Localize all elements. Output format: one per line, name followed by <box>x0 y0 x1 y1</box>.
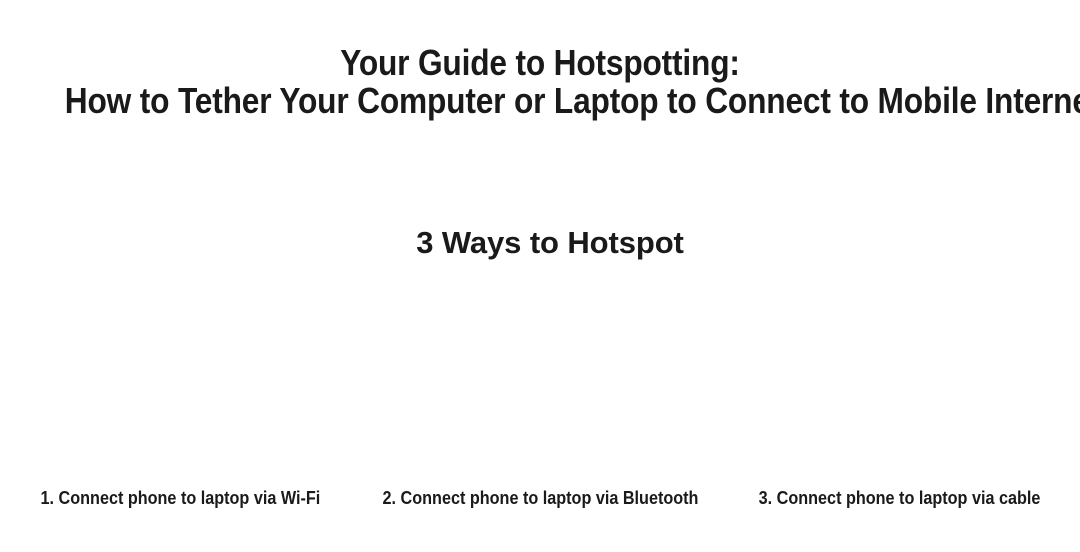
method-caption-1: 1. Connect phone to laptop via Wi-Fi <box>40 486 320 510</box>
method-column-3: 3. Connect phone to laptop via cable <box>720 486 1080 510</box>
page-title: Your Guide to Hotspotting: How to Tether… <box>0 44 1080 120</box>
illustration-row <box>0 282 1080 478</box>
section-heading: 3 Ways to Hotspot <box>0 224 1080 262</box>
caption-row: 1. Connect phone to laptop via Wi-Fi 2. … <box>0 486 1080 510</box>
bluetooth-tethering-illustration <box>360 282 720 478</box>
method-column-2: 2. Connect phone to laptop via Bluetooth <box>360 486 720 510</box>
method-caption-2: 2. Connect phone to laptop via Bluetooth <box>382 486 698 510</box>
cable-tethering-illustration <box>720 282 1080 478</box>
article-page: Your Guide to Hotspotting: How to Tether… <box>0 0 1080 552</box>
section-heading-text: 3 Ways to Hotspot <box>416 224 684 262</box>
page-title-line-2: How to Tether Your Computer or Laptop to… <box>65 82 1015 120</box>
wifi-tethering-illustration <box>0 282 360 478</box>
method-column-1: 1. Connect phone to laptop via Wi-Fi <box>0 486 360 510</box>
page-title-line-1: Your Guide to Hotspotting: <box>65 44 1015 82</box>
method-caption-3: 3. Connect phone to laptop via cable <box>759 486 1041 510</box>
